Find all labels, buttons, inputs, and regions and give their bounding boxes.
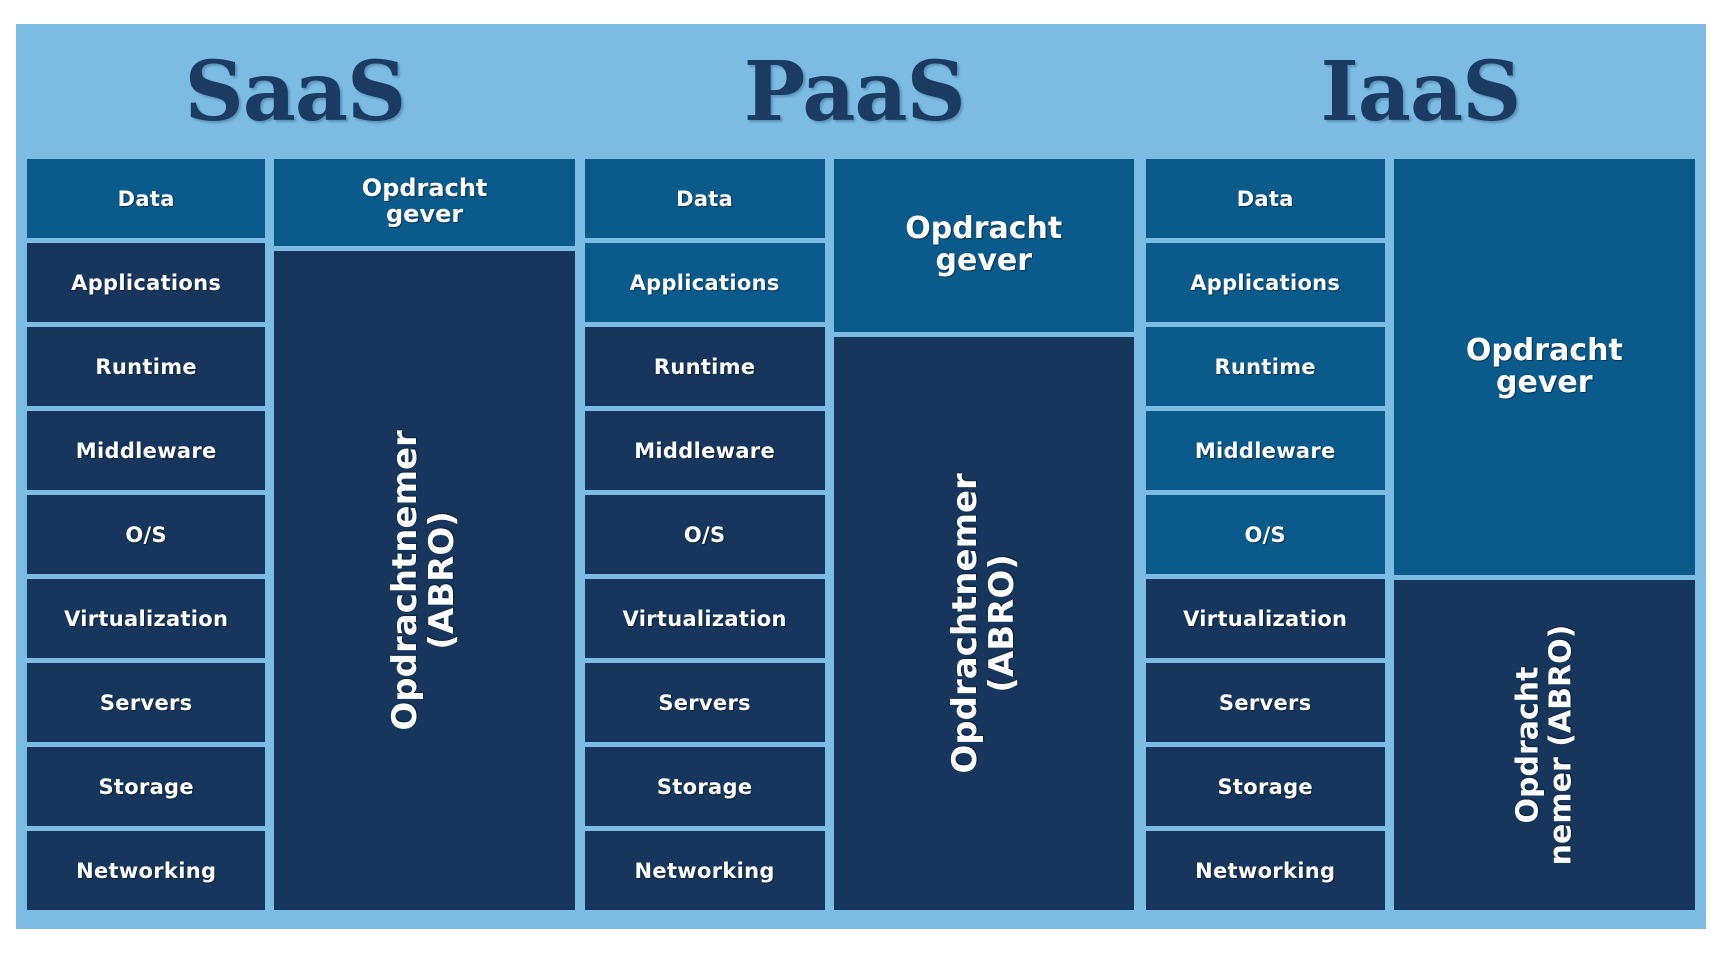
service-model-columns: SaaS Data Applications Runtime Middlewar… xyxy=(16,24,1706,929)
layer-box-storage[interactable]: Storage xyxy=(27,747,265,826)
layer-box-networking[interactable]: Networking xyxy=(1146,831,1385,910)
opdrachtnemer-line2: (ABRO) xyxy=(984,473,1021,773)
opdrachtnemer-rotated-text: Opdrachtnemer (ABRO) xyxy=(387,430,462,730)
opdrachtgever-line2: gever xyxy=(1466,367,1623,399)
layer-box-os[interactable]: O/S xyxy=(585,495,825,574)
layer-box-data[interactable]: Data xyxy=(27,159,265,238)
opdrachtnemer-line1: Opdracht xyxy=(1511,625,1544,866)
opdrachtgever-line2: gever xyxy=(905,245,1062,277)
column-title-paas: PaaS xyxy=(574,24,1135,159)
layer-box-servers[interactable]: Servers xyxy=(1146,663,1385,742)
opdrachtnemer-line2: nemer (ABRO) xyxy=(1544,625,1577,866)
responsibility-box-opdrachtnemer[interactable]: Opdrachtnemer (ABRO) xyxy=(274,251,574,910)
opdrachtnemer-line2: (ABRO) xyxy=(425,430,462,730)
layer-stack-saas: Data Applications Runtime Middleware O/S… xyxy=(27,159,265,910)
layer-box-storage[interactable]: Storage xyxy=(585,747,825,826)
opdrachtnemer-line1: Opdrachtnemer xyxy=(946,473,983,773)
layer-box-storage[interactable]: Storage xyxy=(1146,747,1385,826)
layer-box-data[interactable]: Data xyxy=(1146,159,1385,238)
responsibility-box-opdrachtnemer[interactable]: Opdracht nemer (ABRO) xyxy=(1394,580,1695,910)
column-body-saas: Data Applications Runtime Middleware O/S… xyxy=(16,159,574,929)
column-iaas: IaaS Data Applications Runtime Middlewar… xyxy=(1135,24,1706,929)
layer-box-runtime[interactable]: Runtime xyxy=(27,327,265,406)
layer-stack-iaas: Data Applications Runtime Middleware O/S… xyxy=(1146,159,1385,910)
responsibility-box-opdrachtgever[interactable]: Opdracht gever xyxy=(274,159,574,246)
layer-box-servers[interactable]: Servers xyxy=(27,663,265,742)
responsibility-box-opdrachtnemer[interactable]: Opdrachtnemer (ABRO) xyxy=(834,337,1134,910)
opdrachtnemer-rotated-text: Opdracht nemer (ABRO) xyxy=(1511,625,1577,866)
diagram-stage: SaaS Data Applications Runtime Middlewar… xyxy=(16,24,1706,929)
responsibility-panel-saas: Opdracht gever Opdrachtnemer (ABRO) xyxy=(274,159,574,910)
opdrachtgever-line1: Opdracht xyxy=(905,213,1062,245)
responsibility-box-opdrachtgever[interactable]: Opdracht gever xyxy=(1394,159,1695,575)
layer-box-runtime[interactable]: Runtime xyxy=(1146,327,1385,406)
column-paas: PaaS Data Applications Runtime Middlewar… xyxy=(574,24,1135,929)
opdrachtnemer-rotated-text: Opdrachtnemer (ABRO) xyxy=(946,473,1021,773)
column-body-iaas: Data Applications Runtime Middleware O/S… xyxy=(1135,159,1706,929)
layer-box-middleware[interactable]: Middleware xyxy=(1146,411,1385,490)
layer-box-virtualization[interactable]: Virtualization xyxy=(1146,579,1385,658)
layer-box-virtualization[interactable]: Virtualization xyxy=(27,579,265,658)
opdrachtgever-line1: Opdracht xyxy=(1466,335,1623,367)
layer-box-applications[interactable]: Applications xyxy=(27,243,265,322)
opdrachtnemer-line1: Opdrachtnemer xyxy=(387,430,424,730)
layer-box-applications[interactable]: Applications xyxy=(1146,243,1385,322)
layer-box-middleware[interactable]: Middleware xyxy=(27,411,265,490)
diagram-canvas: SaaS Data Applications Runtime Middlewar… xyxy=(0,0,1725,959)
responsibility-panel-iaas: Opdracht gever Opdracht nemer (ABRO) xyxy=(1394,159,1695,910)
layer-box-os[interactable]: O/S xyxy=(27,495,265,574)
layer-box-data[interactable]: Data xyxy=(585,159,825,238)
opdrachtgever-line1: Opdracht xyxy=(362,176,488,202)
layer-box-servers[interactable]: Servers xyxy=(585,663,825,742)
layer-stack-paas: Data Applications Runtime Middleware O/S… xyxy=(585,159,825,910)
opdrachtgever-line2: gever xyxy=(362,202,488,228)
column-title-saas: SaaS xyxy=(16,24,574,159)
column-saas: SaaS Data Applications Runtime Middlewar… xyxy=(16,24,574,929)
responsibility-panel-paas: Opdracht gever Opdrachtnemer (ABRO) xyxy=(834,159,1134,910)
layer-box-runtime[interactable]: Runtime xyxy=(585,327,825,406)
layer-box-virtualization[interactable]: Virtualization xyxy=(585,579,825,658)
layer-box-networking[interactable]: Networking xyxy=(27,831,265,910)
responsibility-box-opdrachtgever[interactable]: Opdracht gever xyxy=(834,159,1134,332)
layer-box-os[interactable]: O/S xyxy=(1146,495,1385,574)
layer-box-applications[interactable]: Applications xyxy=(585,243,825,322)
layer-box-middleware[interactable]: Middleware xyxy=(585,411,825,490)
layer-box-networking[interactable]: Networking xyxy=(585,831,825,910)
column-body-paas: Data Applications Runtime Middleware O/S… xyxy=(574,159,1135,929)
column-title-iaas: IaaS xyxy=(1135,24,1706,159)
